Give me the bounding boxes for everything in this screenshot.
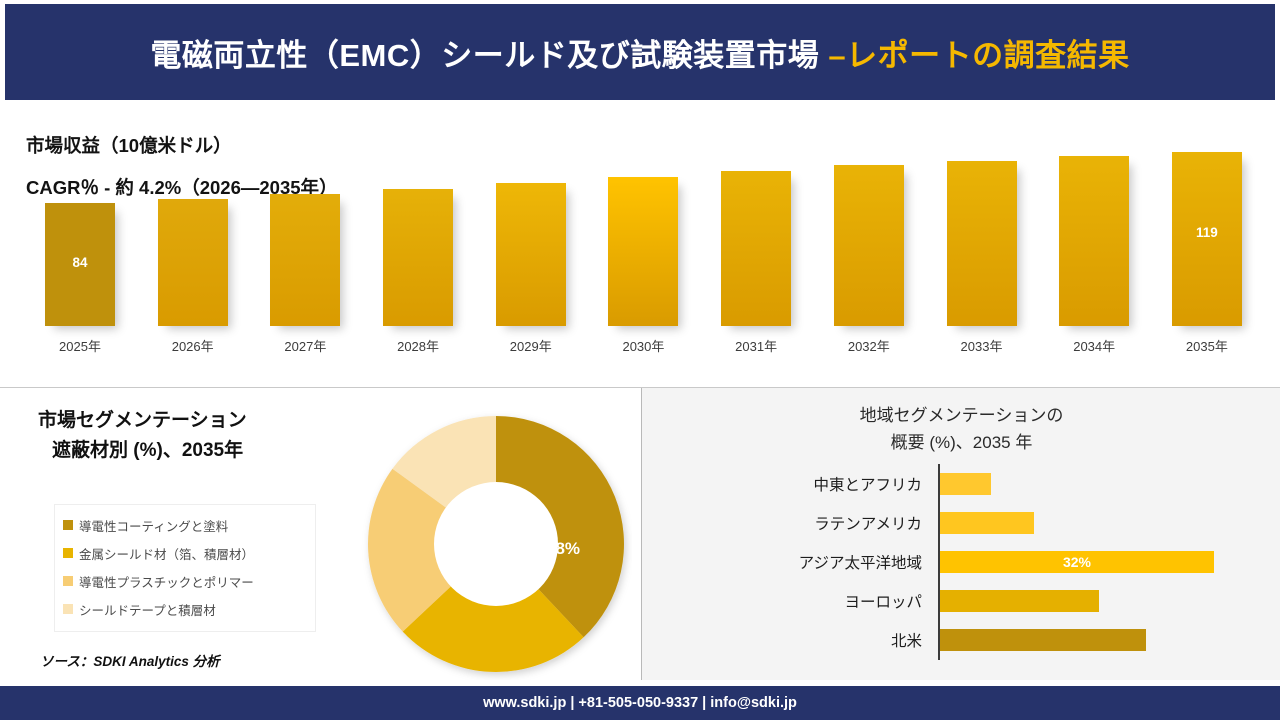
region-name-label: ラテンアメリカ [670,512,932,534]
segmentation-title-line2: 遮蔽材別 (%)、2035年 [38,436,247,466]
region-bar-value: 32% [1063,554,1091,570]
legend-swatch-icon [63,548,73,558]
revenue-bar-column [599,126,687,326]
legend-item: 金属シールド材（箔、積層材） [63,539,307,567]
revenue-bar-column [487,126,575,326]
donut-svg [360,408,632,680]
legend-item-label: シールドテープと積層材 [79,600,216,619]
revenue-bar-value: 84 [45,255,115,270]
segmentation-title: 市場セグメンテーション 遮蔽材別 (%)、2035年 [38,406,247,466]
revenue-axis-label: 2025年 [36,336,124,355]
revenue-bar [158,199,228,326]
page-title: 電磁両立性（EMC）シールド及び試験装置市場 –レポートの調査結果 [150,30,1129,75]
revenue-bar-column [374,126,462,326]
region-bar [940,590,1099,612]
page-title-main: 電磁両立性（EMC）シールド及び試験装置市場 [150,38,828,73]
revenue-bar [721,171,791,326]
page-header: 電磁両立性（EMC）シールド及び試験装置市場 –レポートの調査結果 [5,4,1275,100]
region-bar-chart: 中東とアフリカラテンアメリカアジア太平洋地域32%ヨーロッパ北米 [670,464,1250,660]
revenue-bar [1059,156,1129,326]
legend-item-label: 金属シールド材（箔、積層材） [79,544,254,563]
revenue-bar: 84 [45,203,115,326]
revenue-axis-label: 2032年 [825,336,913,355]
legend-swatch-icon [63,604,73,614]
segmentation-panel: 市場セグメンテーション 遮蔽材別 (%)、2035年 導電性コーティングと塗料金… [0,388,640,680]
region-bar [940,473,991,495]
region-name-label: 北米 [670,629,932,651]
revenue-bar [608,177,678,326]
footer-contact: www.sdki.jp | +81-505-050-9337 | info@sd… [483,695,797,711]
revenue-bar-column [149,126,237,326]
bottom-section: 市場セグメンテーション 遮蔽材別 (%)、2035年 導電性コーティングと塗料金… [0,388,1280,680]
revenue-bar: 119 [1172,152,1242,326]
region-name-label: ヨーロッパ [670,590,932,612]
donut-chart: 38% [360,408,632,680]
revenue-chart-section: 市場収益（10億米ドル） CAGR％ - 約 4.2%（2026―2035年） … [0,104,1280,384]
segmentation-title-line1: 市場セグメンテーション [38,410,247,431]
revenue-axis-label: 2035年 [1163,336,1251,355]
region-row: ヨーロッパ [670,581,1250,620]
revenue-axis-label: 2033年 [938,336,1026,355]
region-title-line2: 概要 (%)、2035 年 [891,433,1033,452]
revenue-axis-label: 2027年 [261,336,349,355]
revenue-axis-label: 2031年 [712,336,800,355]
infographic-page: 電磁両立性（EMC）シールド及び試験装置市場 –レポートの調査結果 市場収益（1… [0,0,1280,720]
revenue-bar [834,165,904,326]
revenue-bar-column [825,126,913,326]
revenue-axis-labels: 2025年2026年2027年2028年2029年2030年2031年2032年… [36,336,1251,355]
revenue-bar [383,189,453,326]
region-panel: 地域セグメンテーションの 概要 (%)、2035 年 中東とアフリカラテンアメリ… [641,388,1280,680]
revenue-bar-column [712,126,800,326]
legend-item-label: 導電性コーティングと塗料 [79,516,228,535]
region-name-label: アジア太平洋地域 [670,551,932,573]
region-bar-track [940,473,1250,495]
region-bar-track [940,590,1250,612]
revenue-bar [947,161,1017,326]
revenue-axis-label: 2026年 [149,336,237,355]
page-footer: www.sdki.jp | +81-505-050-9337 | info@sd… [0,686,1280,720]
region-bar-track: 32% [940,551,1250,573]
region-name-label: 中東とアフリカ [670,473,932,495]
region-row: ラテンアメリカ [670,503,1250,542]
revenue-bar-column: 119 [1163,126,1251,326]
legend-item: 導電性プラスチックとポリマー [63,567,307,595]
page-title-accent: –レポートの調査結果 [828,38,1129,73]
region-title-line1: 地域セグメンテーションの [860,406,1064,425]
revenue-bar [270,194,340,326]
revenue-axis-label: 2030年 [599,336,687,355]
segmentation-legend: 導電性コーティングと塗料金属シールド材（箔、積層材）導電性プラスチックとポリマー… [54,504,316,632]
revenue-bar-column: 84 [36,126,124,326]
region-row: アジア太平洋地域32% [670,542,1250,581]
revenue-axis-label: 2034年 [1050,336,1138,355]
region-bar-track [940,629,1250,651]
revenue-bar-column [938,126,1026,326]
region-title: 地域セグメンテーションの 概要 (%)、2035 年 [642,402,1280,456]
legend-item: シールドテープと積層材 [63,595,307,623]
region-bar: 32% [940,551,1214,573]
donut-hole [434,482,558,606]
legend-item: 導電性コーティングと塗料 [63,511,307,539]
region-bar-track [940,512,1250,534]
revenue-axis-label: 2028年 [374,336,462,355]
revenue-axis-label: 2029年 [487,336,575,355]
region-bar [940,512,1034,534]
revenue-bar-group: 84119 [36,126,1251,326]
revenue-bar-value: 119 [1172,225,1242,240]
donut-center-value: 38% [546,539,580,559]
revenue-bar [496,183,566,326]
legend-item-label: 導電性プラスチックとポリマー [79,572,254,591]
legend-swatch-icon [63,520,73,530]
region-bar [940,629,1146,651]
region-row: 中東とアフリカ [670,464,1250,503]
region-row: 北米 [670,620,1250,659]
source-note: ソース：SDKI Analytics 分析 [40,650,220,670]
revenue-bar-column [1050,126,1138,326]
revenue-bar-column [261,126,349,326]
legend-swatch-icon [63,576,73,586]
